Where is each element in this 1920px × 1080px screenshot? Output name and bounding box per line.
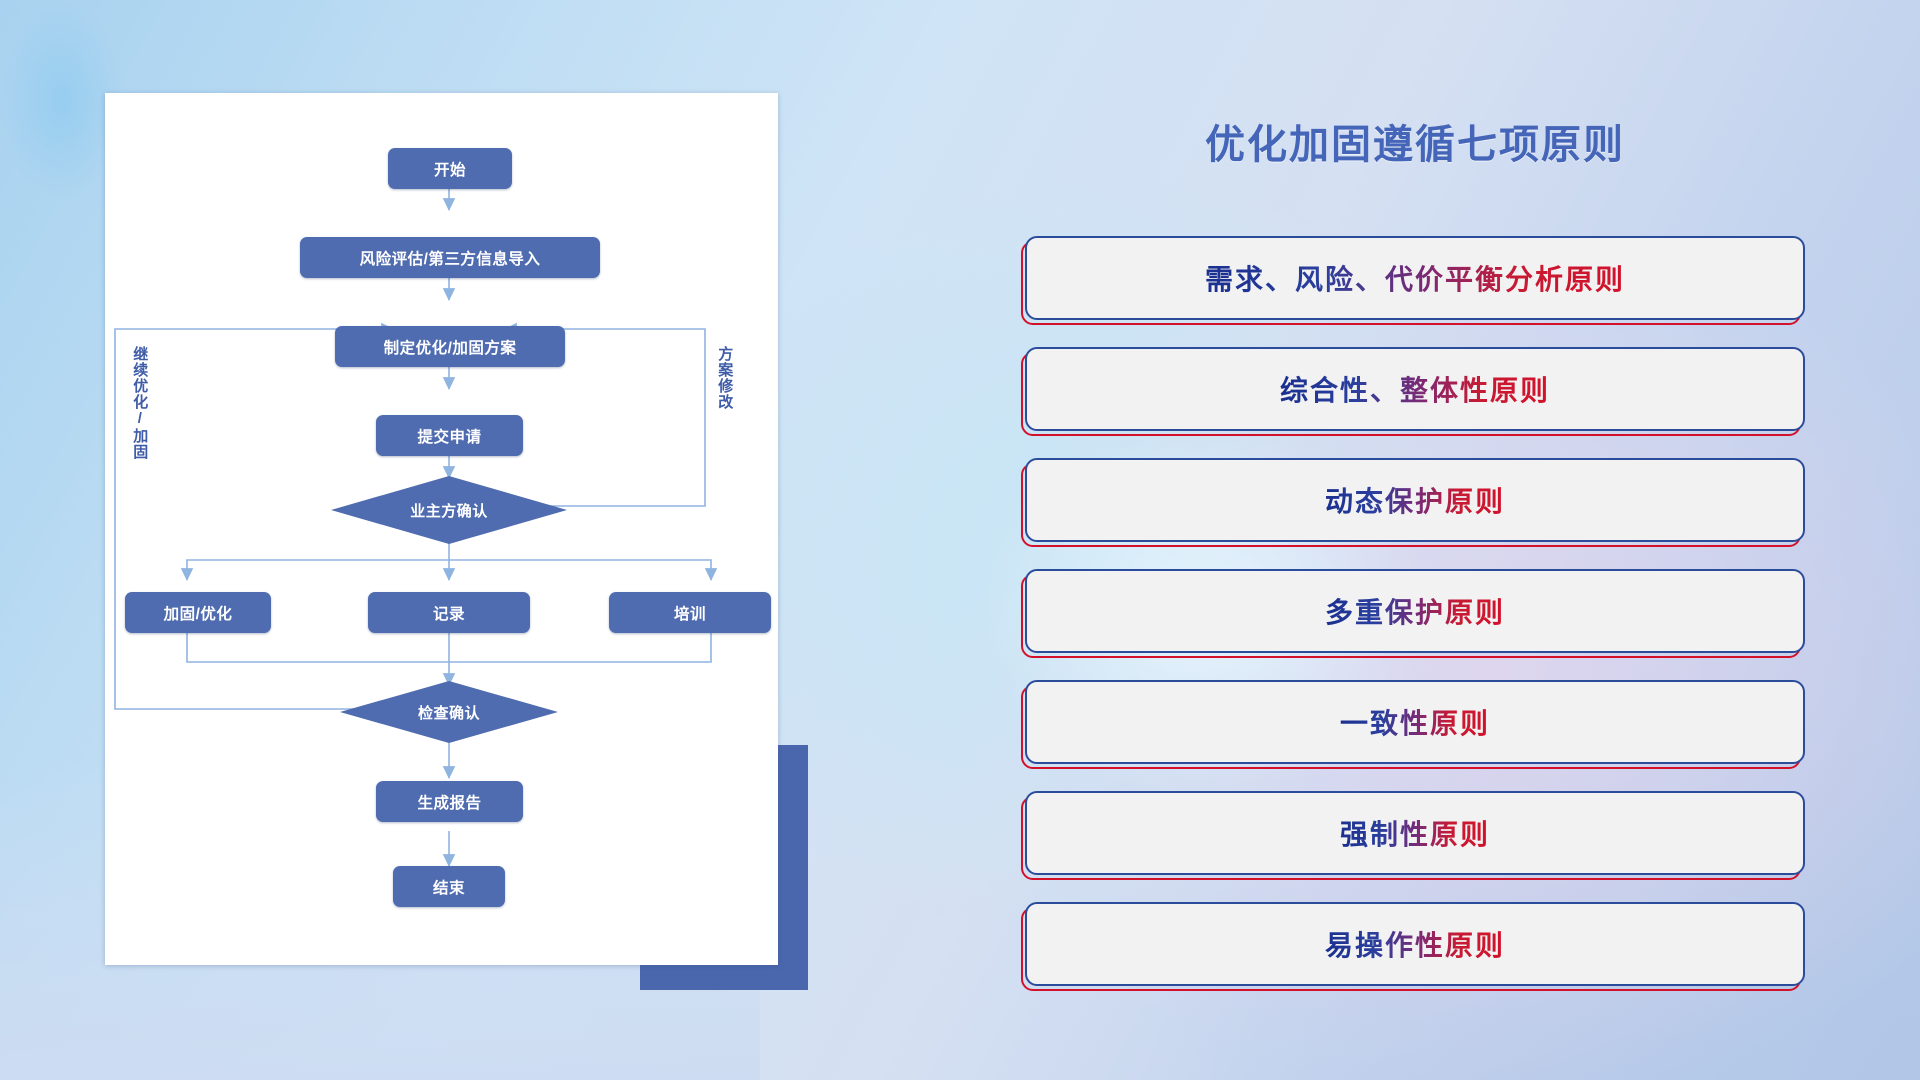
- principles-list: 需求、风险、代价平衡分析原则 综合性、整体性原则 动态保护原则 多重保护原则 一: [1025, 236, 1805, 1013]
- flow-node-risk-assessment-label: 风险评估/第三方信息导入: [360, 247, 541, 269]
- principle-item[interactable]: 一致性原则: [1025, 680, 1805, 764]
- flow-node-check-confirm-label: 检查确认: [418, 702, 480, 723]
- principle-item-label: 强制性原则: [1340, 813, 1490, 853]
- principle-item-label: 动态保护原则: [1325, 480, 1505, 520]
- principle-item-box[interactable]: 强制性原则: [1025, 791, 1805, 875]
- flow-node-reinforce-label: 加固/优化: [164, 602, 233, 624]
- flow-node-record-label: 记录: [433, 602, 465, 624]
- principle-item-box[interactable]: 需求、风险、代价平衡分析原则: [1025, 236, 1805, 320]
- principle-item[interactable]: 多重保护原则: [1025, 569, 1805, 653]
- flow-node-submit-application-label: 提交申请: [417, 425, 481, 447]
- principle-item-box[interactable]: 一致性原则: [1025, 680, 1805, 764]
- flow-node-generate-report-label: 生成报告: [417, 791, 481, 813]
- principle-item[interactable]: 易操作性原则: [1025, 902, 1805, 986]
- flow-node-plan[interactable]: 制定优化/加固方案: [335, 326, 565, 367]
- principle-item-box[interactable]: 综合性、整体性原则: [1025, 347, 1805, 431]
- flow-node-plan-label: 制定优化/加固方案: [384, 336, 517, 358]
- flow-node-end[interactable]: 结束: [393, 866, 505, 907]
- flowchart-card: 开始 风险评估/第三方信息导入 制定优化/加固方案 提交申请 业主方确认 加固/…: [105, 93, 778, 965]
- principle-item-box[interactable]: 易操作性原则: [1025, 902, 1805, 986]
- flow-node-record[interactable]: 记录: [368, 592, 530, 633]
- principle-item-label: 一致性原则: [1340, 702, 1490, 742]
- flow-node-training[interactable]: 培训: [609, 592, 771, 633]
- principle-item[interactable]: 综合性、整体性原则: [1025, 347, 1805, 431]
- slide-canvas: 开始 风险评估/第三方信息导入 制定优化/加固方案 提交申请 业主方确认 加固/…: [0, 0, 1920, 1080]
- principle-item[interactable]: 强制性原则: [1025, 791, 1805, 875]
- principle-item-label: 综合性、整体性原则: [1280, 369, 1550, 409]
- flow-node-check-confirm[interactable]: 检查确认: [340, 681, 558, 743]
- flow-node-owner-confirm[interactable]: 业主方确认: [331, 476, 567, 544]
- flow-node-reinforce[interactable]: 加固/优化: [125, 592, 271, 633]
- principle-item-label: 需求、风险、代价平衡分析原则: [1205, 258, 1625, 298]
- flow-node-risk-assessment[interactable]: 风险评估/第三方信息导入: [300, 237, 600, 278]
- flow-node-end-label: 结束: [433, 876, 465, 898]
- principle-item-label: 多重保护原则: [1325, 591, 1505, 631]
- principle-item-box[interactable]: 动态保护原则: [1025, 458, 1805, 542]
- flow-node-training-label: 培训: [674, 602, 706, 624]
- flow-node-start[interactable]: 开始: [388, 148, 512, 189]
- principle-item-label: 易操作性原则: [1325, 924, 1505, 964]
- flow-node-start-label: 开始: [434, 158, 466, 180]
- flow-edge-label-continue-optimize: 继续优化/加固: [132, 346, 147, 460]
- principle-item[interactable]: 需求、风险、代价平衡分析原则: [1025, 236, 1805, 320]
- principles-panel-title: 优化加固遵循七项原则: [1020, 112, 1810, 170]
- flow-node-generate-report[interactable]: 生成报告: [376, 781, 523, 822]
- flow-node-owner-confirm-label: 业主方确认: [410, 500, 488, 521]
- principle-item[interactable]: 动态保护原则: [1025, 458, 1805, 542]
- flow-node-submit-application[interactable]: 提交申请: [376, 415, 523, 456]
- principle-item-box[interactable]: 多重保护原则: [1025, 569, 1805, 653]
- flow-edge-label-plan-revision: 方案修改: [717, 346, 732, 410]
